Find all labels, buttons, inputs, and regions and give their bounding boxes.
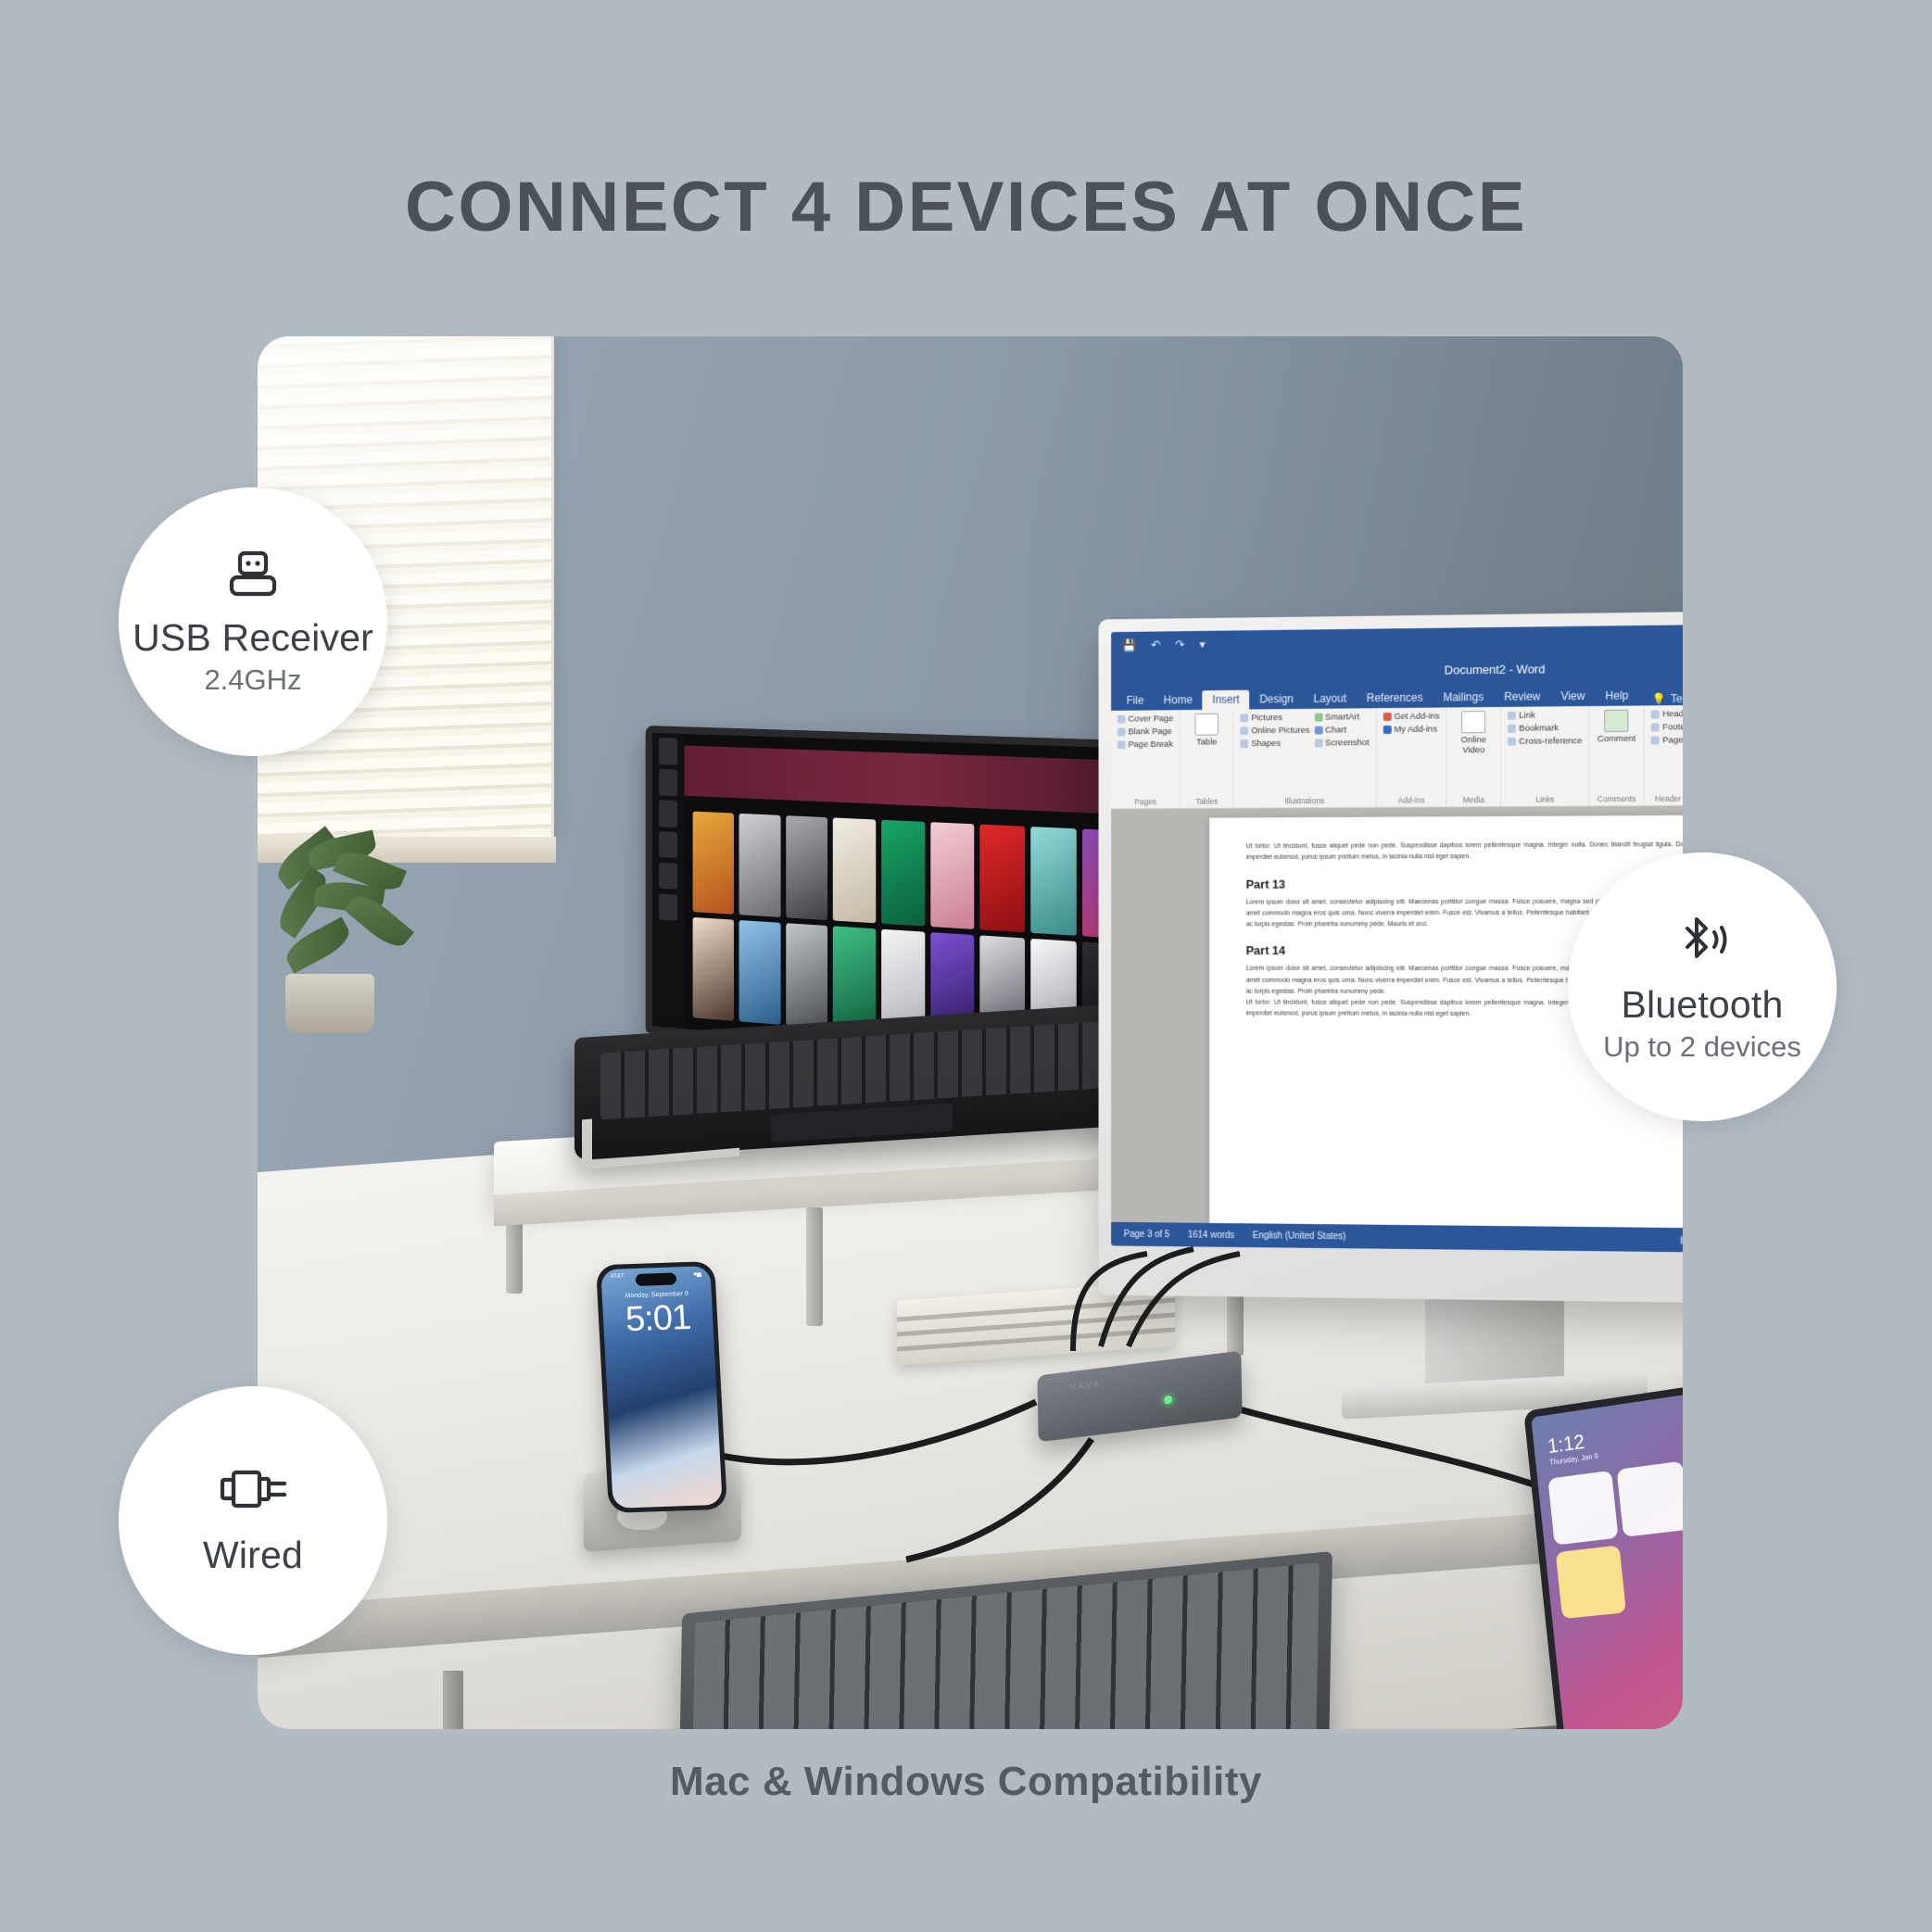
- document-paragraph: Ut tortor. Ut tincidunt, fusce aliquet p…: [1246, 840, 1683, 865]
- get-addins-button[interactable]: Get Add-ins: [1383, 712, 1439, 723]
- riser-leg: [806, 1207, 823, 1326]
- tab-insert[interactable]: Insert: [1203, 690, 1250, 710]
- hub-brand-label: VAVA: [1070, 1379, 1102, 1392]
- online-pictures-button[interactable]: Online Pictures: [1241, 726, 1310, 737]
- blank-page-icon: [1118, 727, 1126, 736]
- tablet-widget-calendar[interactable]: [1547, 1471, 1618, 1546]
- redo-icon[interactable]: ↷: [1175, 638, 1185, 652]
- phone-dynamic-island: [636, 1272, 677, 1286]
- screenshot-icon: [1314, 739, 1322, 748]
- ribbon-group-label: Tables: [1187, 797, 1227, 806]
- language-indicator[interactable]: English (United States): [1253, 1231, 1346, 1242]
- tab-review[interactable]: Review: [1494, 687, 1550, 707]
- tab-mailings[interactable]: Mailings: [1433, 688, 1494, 708]
- my-addins-button[interactable]: My Add-ins: [1383, 725, 1439, 735]
- online-video-icon: [1461, 711, 1485, 733]
- tell-me-search[interactable]: 💡 Tell me what you want to do: [1652, 691, 1683, 706]
- word-status-bar[interactable]: Page 3 of 5 1614 words English (United S…: [1111, 1222, 1683, 1255]
- header-button[interactable]: Header: [1651, 709, 1683, 720]
- carrier-label: AT&T: [611, 1273, 625, 1281]
- ribbon-group-illustrations: Pictures Online Pictures Shapes: [1234, 708, 1377, 807]
- footer-caption: Mac & Windows Compatibility: [0, 1759, 1932, 1805]
- badge-subtitle: 2.4GHz: [204, 665, 301, 696]
- tab-home[interactable]: Home: [1154, 690, 1203, 710]
- media-app-sidebar[interactable]: [652, 733, 684, 1029]
- chart-button[interactable]: Chart: [1314, 725, 1369, 735]
- ribbon-group-links: Link Bookmark Cross-reference: [1501, 706, 1589, 806]
- badge-title: USB Receiver: [133, 618, 373, 658]
- bookmark-button[interactable]: Bookmark: [1508, 723, 1582, 734]
- page-break-button[interactable]: Page Break: [1118, 739, 1173, 750]
- word-ribbon[interactable]: Cover Page Blank Page Page Break: [1111, 703, 1683, 809]
- ribbon-group-label: Media: [1453, 795, 1494, 804]
- tab-design[interactable]: Design: [1249, 689, 1303, 709]
- battery-icon: ■▅: [693, 1270, 701, 1277]
- hub-power-led: [1164, 1395, 1172, 1405]
- tablet-widget-reminders[interactable]: [1556, 1545, 1626, 1619]
- undo-icon[interactable]: ↶: [1151, 638, 1161, 652]
- feature-badge-wired: Wired: [119, 1386, 387, 1655]
- pictures-button[interactable]: Pictures: [1241, 713, 1310, 724]
- table-icon: [1195, 713, 1219, 736]
- link-button[interactable]: Link: [1508, 710, 1582, 721]
- footer-button[interactable]: Footer: [1651, 722, 1683, 733]
- tablet-home-screen[interactable]: 1:12 Thursday, Jan 9: [1531, 1380, 1683, 1729]
- tab-view[interactable]: View: [1550, 687, 1595, 707]
- save-icon[interactable]: 💾: [1122, 638, 1137, 653]
- badge-title: Wired: [203, 1535, 303, 1575]
- usb-plug-icon: [218, 1466, 288, 1517]
- footer-icon: [1651, 723, 1660, 731]
- comment-button[interactable]: Comment: [1597, 710, 1637, 745]
- media-app-hero-banner: [652, 745, 1139, 815]
- ribbon-group-label: Add-ins: [1383, 795, 1439, 804]
- phone-time: 5:01: [602, 1297, 713, 1341]
- cover-page-icon: [1118, 715, 1126, 724]
- ribbon-group-label: Links: [1508, 794, 1582, 803]
- product-infographic: CONNECT 4 DEVICES AT ONCE: [0, 0, 1932, 1932]
- ribbon-group-label: Comments: [1597, 794, 1637, 803]
- ribbon-group-comments: Comment Comments: [1590, 705, 1645, 805]
- cross-reference-button[interactable]: Cross-reference: [1508, 736, 1582, 747]
- word-count[interactable]: 1614 words: [1188, 1230, 1234, 1240]
- feature-badge-usb-receiver: USB Receiver 2.4GHz: [119, 487, 387, 756]
- ribbon-group-label: Header & Footer: [1651, 794, 1683, 803]
- badge-title: Bluetooth: [1621, 985, 1783, 1025]
- ribbon-group-tables: Table Tables: [1181, 710, 1234, 808]
- tab-references[interactable]: References: [1357, 688, 1433, 709]
- bookmark-icon: [1508, 725, 1516, 733]
- pictures-icon: [1241, 713, 1249, 722]
- cross-reference-icon: [1508, 738, 1516, 746]
- comment-icon: [1605, 710, 1629, 732]
- plant-pot: [285, 974, 374, 1033]
- feature-badge-bluetooth: Bluetooth Up to 2 devices: [1568, 852, 1837, 1121]
- shapes-button[interactable]: Shapes: [1241, 739, 1310, 750]
- page-break-icon: [1118, 740, 1126, 749]
- shapes-icon: [1241, 739, 1249, 748]
- ribbon-group-label: Pages: [1118, 797, 1173, 806]
- online-pictures-icon: [1241, 726, 1249, 735]
- ribbon-group-label: Illustrations: [1241, 796, 1370, 806]
- phone-lock-screen[interactable]: AT&T ■▅ Monday, September 9 5:01: [600, 1266, 722, 1509]
- tab-file[interactable]: File: [1117, 691, 1154, 711]
- laptop-keyboard[interactable]: [600, 1021, 1116, 1120]
- smartart-icon: [1314, 713, 1322, 722]
- bluetooth-icon: [1673, 912, 1732, 972]
- online-video-button[interactable]: Online Video: [1453, 711, 1494, 755]
- page-number-icon: [1651, 737, 1660, 745]
- ribbon-group-header-footer: Header Footer Page Number: [1645, 705, 1683, 805]
- potted-plant: [263, 835, 411, 1002]
- usb-dongle-icon: [224, 549, 282, 605]
- tab-layout[interactable]: Layout: [1304, 689, 1357, 709]
- badge-subtitle: Up to 2 devices: [1603, 1032, 1801, 1063]
- page-number-button[interactable]: Page Number: [1651, 735, 1683, 746]
- tablet-widget-notes[interactable]: [1617, 1461, 1683, 1537]
- laptop: [575, 733, 1142, 1178]
- tell-me-label: Tell me what you want to do: [1671, 691, 1683, 706]
- lightbulb-icon: 💡: [1652, 692, 1666, 705]
- chart-icon: [1314, 726, 1322, 735]
- laptop-trackpad[interactable]: [771, 1104, 953, 1143]
- ribbon-group-media: Online Video Media: [1447, 707, 1502, 806]
- my-addins-icon: [1383, 726, 1391, 734]
- desk-leg-left: [443, 1671, 463, 1729]
- customize-icon[interactable]: ▾: [1199, 638, 1205, 652]
- header-icon: [1651, 710, 1660, 718]
- screenshot-button[interactable]: Screenshot: [1314, 738, 1369, 748]
- smartart-button[interactable]: SmartArt: [1314, 712, 1369, 722]
- page-title: CONNECT 4 DEVICES AT ONCE: [0, 172, 1932, 243]
- page-indicator[interactable]: Page 3 of 5: [1124, 1229, 1170, 1239]
- ribbon-group-pages: Cover Page Blank Page Page Break: [1111, 710, 1181, 808]
- blank-page-button[interactable]: Blank Page: [1118, 726, 1173, 737]
- cover-page-button[interactable]: Cover Page: [1118, 713, 1173, 724]
- table-button[interactable]: Table: [1187, 713, 1227, 748]
- read-mode-icon[interactable]: ▤: [1680, 1235, 1683, 1245]
- smartphone: AT&T ■▅ Monday, September 9 5:01: [596, 1261, 727, 1513]
- ribbon-group-addins: Get Add-ins My Add-ins Add-ins: [1377, 707, 1447, 806]
- product-lifestyle-photo: 💾 ↶ ↷ ▾ Document2 - Word File Home Inser…: [258, 336, 1683, 1729]
- tab-help[interactable]: Help: [1595, 686, 1638, 706]
- get-addins-icon: [1383, 713, 1391, 721]
- link-icon: [1508, 712, 1516, 720]
